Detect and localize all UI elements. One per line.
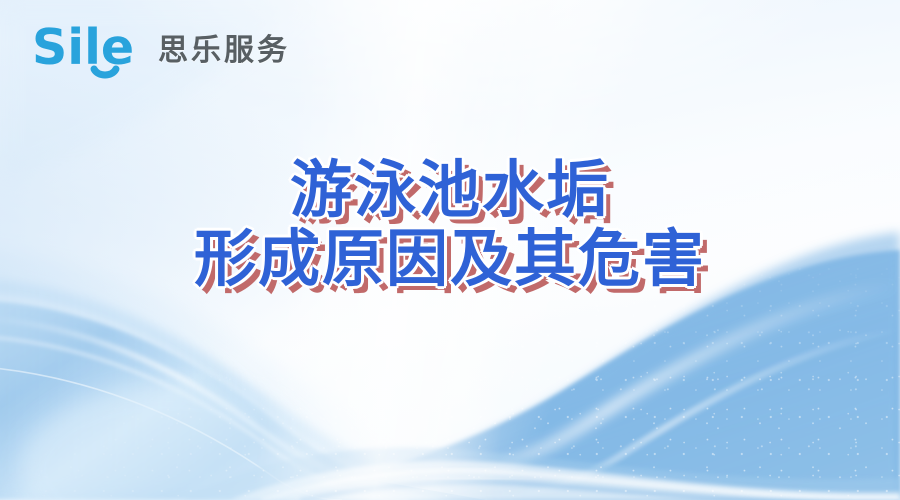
headline-line-2: 形成原因及其危害 [0,227,900,290]
poster-headline: 游泳池水垢 形成原因及其危害 [0,158,900,290]
brand-logo[interactable]: Sile 思乐服务 [32,22,290,80]
poster-canvas: Sile 思乐服务 游泳池水垢 形成原因及其危害 [0,0,900,500]
headline-line-1: 游泳池水垢 [0,158,900,221]
sile-wordmark-icon: Sile [32,22,144,80]
brand-chinese-name: 思乐服务 [158,36,290,66]
